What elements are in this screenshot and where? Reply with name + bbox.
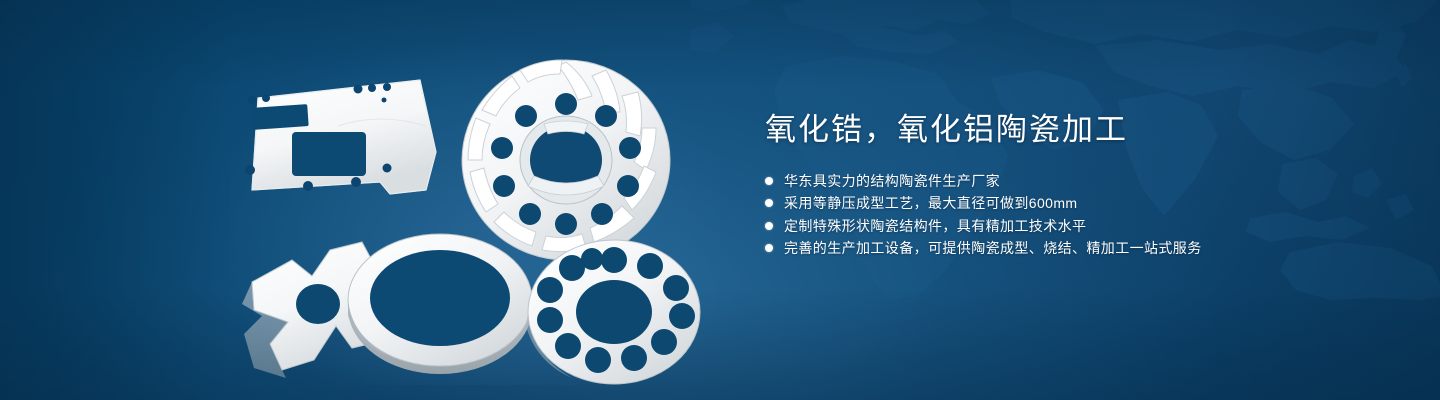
ceramic-perforated-disc	[526, 240, 700, 384]
bullet-dot-icon	[765, 177, 773, 185]
list-item: 完善的生产加工设备，可提供陶瓷成型、烧结、精加工一站式服务	[765, 237, 1325, 259]
list-item: 华东具实力的结构陶瓷件生产厂家	[765, 170, 1325, 192]
feature-text: 定制特殊形状陶瓷结构件，具有精加工技术水平	[784, 215, 1086, 237]
feature-list: 华东具实力的结构陶瓷件生产厂家 采用等静压成型工艺，最大直径可做到600mm 定…	[765, 170, 1325, 259]
page-title: 氧化锆，氧化铝陶瓷加工	[765, 108, 1325, 152]
ceramic-ring-part	[348, 234, 532, 374]
bullet-dot-icon	[765, 199, 773, 207]
ceramic-products-image	[230, 40, 720, 385]
bullet-dot-icon	[765, 244, 773, 252]
feature-text: 完善的生产加工设备，可提供陶瓷成型、烧结、精加工一站式服务	[784, 237, 1202, 259]
ceramic-impeller-disc	[462, 60, 670, 260]
ceramic-plate-with-cutouts	[245, 80, 436, 194]
list-item: 采用等静压成型工艺，最大直径可做到600mm	[765, 192, 1325, 214]
list-item: 定制特殊形状陶瓷结构件，具有精加工技术水平	[765, 215, 1325, 237]
banner-copy: 氧化锆，氧化铝陶瓷加工 华东具实力的结构陶瓷件生产厂家 采用等静压成型工艺，最大…	[765, 108, 1325, 259]
feature-text: 采用等静压成型工艺，最大直径可做到600mm	[784, 192, 1077, 214]
feature-text: 华东具实力的结构陶瓷件生产厂家	[784, 170, 1000, 192]
bullet-dot-icon	[765, 222, 773, 230]
hero-banner: 氧化锆，氧化铝陶瓷加工 华东具实力的结构陶瓷件生产厂家 采用等静压成型工艺，最大…	[0, 0, 1440, 400]
